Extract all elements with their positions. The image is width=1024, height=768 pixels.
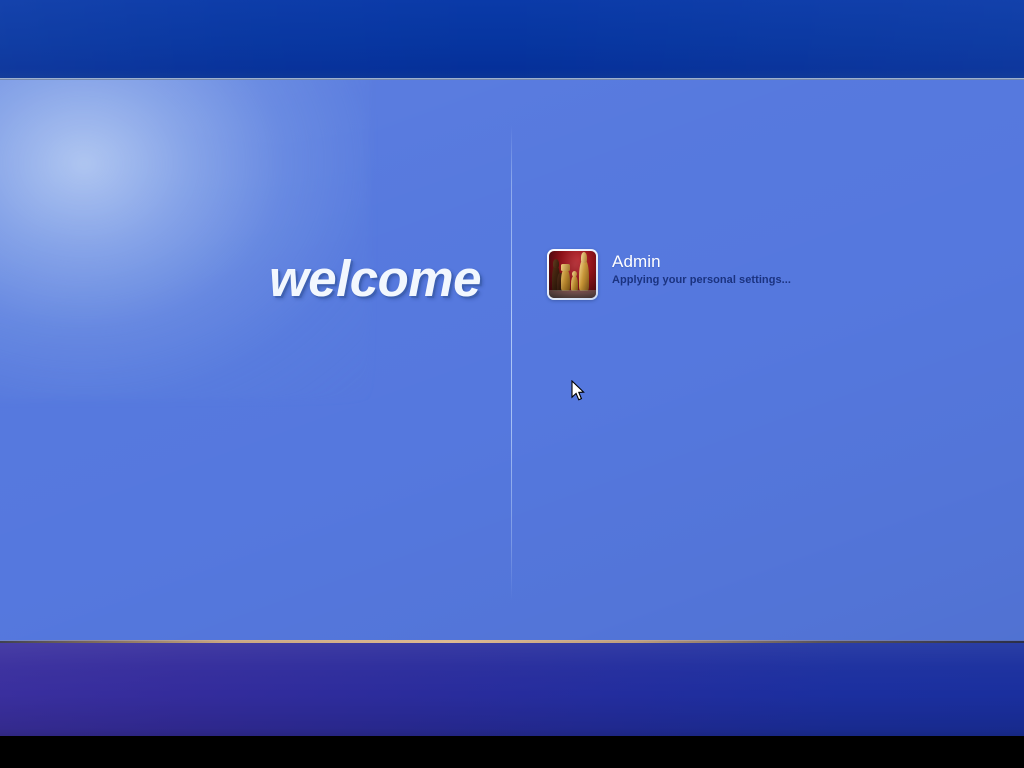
vertical-divider-line [511,125,512,600]
welcome-screen: welcome Admin Applying your personal set… [0,0,1024,768]
bottom-banner-sheen [0,643,1024,736]
user-tile-admin[interactable]: Admin Applying your personal settings... [547,249,791,300]
user-text-block: Admin Applying your personal settings... [612,249,791,288]
top-banner-sheen [0,0,1024,78]
avatar-vignette [549,251,596,298]
desktop-area [0,80,1024,641]
bottom-banner [0,643,1024,736]
desktop-shade-overlay [0,80,1024,641]
bottom-black-strip [0,736,1024,768]
user-name-label: Admin [612,252,791,272]
top-banner [0,0,1024,78]
welcome-text: welcome [269,248,481,310]
avatar-frame[interactable] [547,249,598,300]
chess-pieces-avatar [549,251,596,298]
welcome-block: welcome [0,248,481,318]
user-status-label: Applying your personal settings... [612,273,791,288]
